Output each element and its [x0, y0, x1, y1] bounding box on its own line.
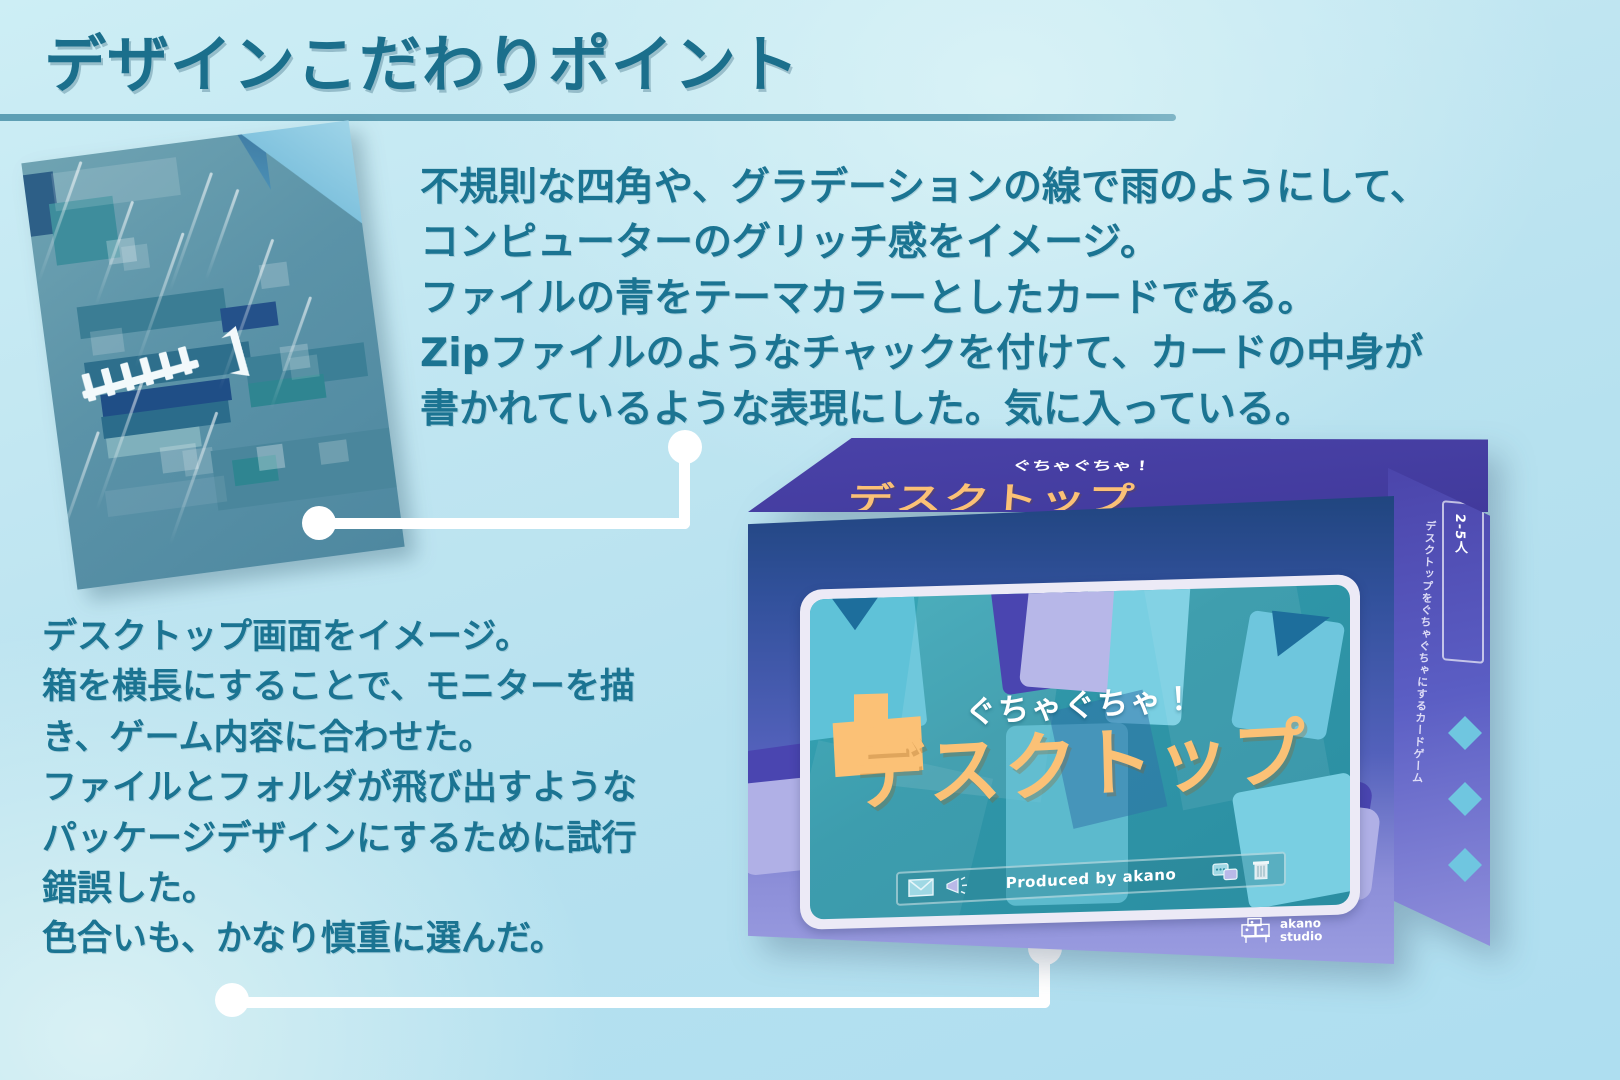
box-side-panel: 2-5人 デスクトップをぐちゃぐちゃにするカードゲーム: [1388, 468, 1490, 946]
chat-icon: [1212, 861, 1238, 882]
box-side-vertical-text: デスクトップをぐちゃぐちゃにするカードゲーム: [1405, 520, 1438, 880]
rain-line: [54, 431, 100, 555]
connector-endpoint-dot: [668, 430, 702, 464]
megaphone-icon: [944, 875, 970, 896]
connector-endpoint-dot: [215, 983, 249, 1017]
trash-icon: [1248, 859, 1274, 880]
akano-studio-wordmark: akano studio: [1280, 917, 1322, 945]
glitch-rect: [105, 476, 227, 517]
akano-logo-line2: studio: [1280, 930, 1322, 944]
diamond-icon: [1448, 782, 1482, 816]
box-top-main-title: デスクトップ: [846, 473, 1137, 510]
mail-icon: [908, 877, 934, 898]
page-title: デザインこだわりポイント: [44, 14, 800, 104]
glitch-rect: [289, 354, 320, 379]
monitor-screen: ぐちゃぐちゃ！ デスクトップ Produced by akano: [810, 584, 1350, 919]
diamond-icon: [1448, 716, 1482, 750]
diamond-icon: [1448, 848, 1482, 882]
connector-horizontal-segment: [318, 518, 690, 529]
rain-line: [205, 189, 240, 280]
player-count-badge: 2-5人: [1442, 500, 1484, 664]
title-underline-rule: [0, 114, 1176, 121]
box-top-subtitle: ぐちゃぐちゃ！: [1011, 456, 1152, 474]
glitch-rect: [256, 444, 285, 471]
game-box-package: ぐちゃぐちゃ！ デスクトップ 2-5人 デスクトップをぐちゃぐちゃにするカードゲ…: [740, 438, 1550, 978]
box-front-panel: ぐちゃぐちゃ！ デスクトップ Produced by akano: [748, 496, 1394, 964]
akano-studio-mark-icon: [1240, 916, 1274, 947]
design-note-card: 不規則な四角や、グラデーションの線で雨のようにして、 コンピューターのグリッチ感…: [420, 160, 1600, 437]
page-header: デザインこだわりポイント: [0, 0, 1620, 130]
glitch-rect: [121, 244, 150, 271]
card-folded-corner: [241, 120, 362, 237]
connector-elbow: [679, 513, 690, 529]
monitor-bezel: ぐちゃぐちゃ！ デスクトップ Produced by akano: [800, 574, 1360, 930]
connector-horizontal-segment: [230, 997, 1050, 1008]
glitch-rect: [90, 328, 125, 356]
connector-endpoint-dot: [302, 506, 336, 540]
design-note-package: デスクトップ画面をイメージ。 箱を横長にすることで、モニターを描 き、ゲーム内容…: [42, 612, 742, 965]
zipper-pull: [180, 326, 250, 392]
producer-credit: Produced by akano: [980, 864, 1202, 894]
connector-card-to-text: [300, 420, 720, 550]
player-count-label: 2-5人: [1450, 513, 1469, 555]
akano-studio-logo: akano studio: [1240, 915, 1322, 947]
